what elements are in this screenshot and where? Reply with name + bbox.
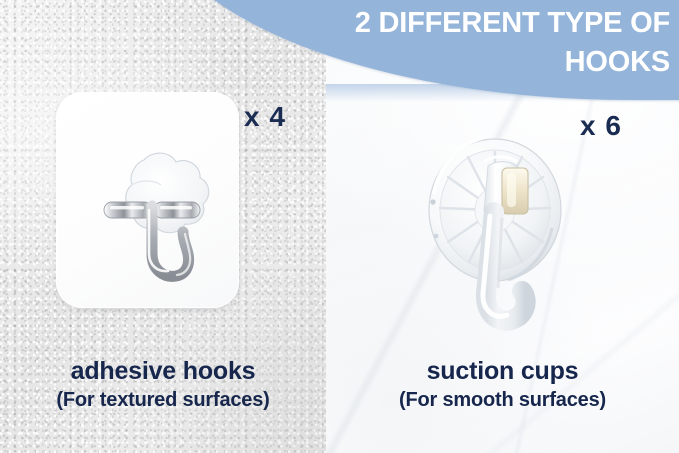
left-caption-title: adhesive hooks <box>0 357 326 385</box>
right-caption-subtitle: (For smooth surfaces) <box>326 388 679 412</box>
right-caption-title: suction cups <box>326 357 679 385</box>
right-count-label: x 6 <box>580 110 622 142</box>
adhesive-hook-icon <box>92 150 222 295</box>
suction-cup-hook-icon <box>424 132 586 342</box>
clear-flower-base <box>126 153 209 233</box>
page-title: 2 DIFFERENT TYPE OF HOOKS <box>250 4 670 81</box>
left-count-label: x 4 <box>244 101 286 133</box>
left-caption: adhesive hooks (For textured surfaces) <box>0 357 326 412</box>
product-infographic: 2 DIFFERENT TYPE OF HOOKS <box>0 0 679 453</box>
right-caption: suction cups (For smooth surfaces) <box>326 357 679 412</box>
left-caption-subtitle: (For textured surfaces) <box>0 388 326 412</box>
